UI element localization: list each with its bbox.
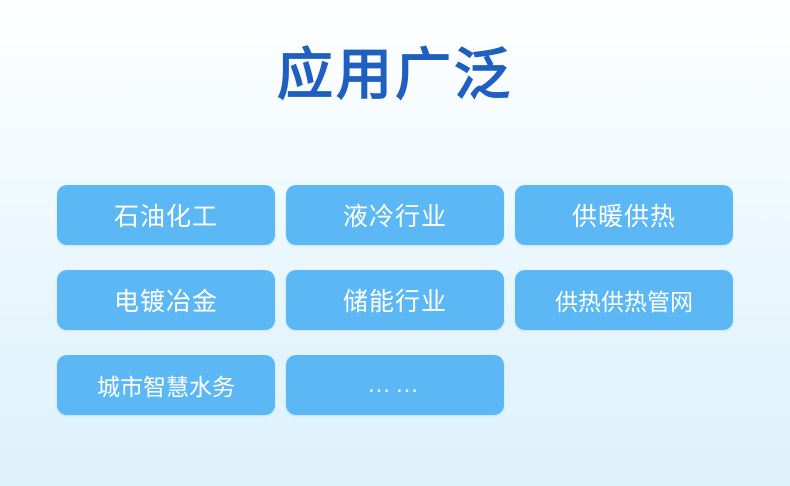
application-tag[interactable]: 石油化工 bbox=[57, 185, 275, 245]
application-tag[interactable]: 液冷行业 bbox=[286, 185, 504, 245]
page-title: 应用广泛 bbox=[0, 44, 790, 106]
application-tag-grid: 石油化工 液冷行业 供暖供热 电镀冶金 储能行业 供热供热管网 城市智慧水务 …… bbox=[57, 185, 733, 415]
application-tag-more[interactable]: …… bbox=[286, 355, 504, 415]
application-tag[interactable]: 储能行业 bbox=[286, 270, 504, 330]
application-tag[interactable]: 供热供热管网 bbox=[515, 270, 733, 330]
application-tag[interactable]: 电镀冶金 bbox=[57, 270, 275, 330]
application-scope-poster: 应用广泛 石油化工 液冷行业 供暖供热 电镀冶金 储能行业 供热供热管网 城市智… bbox=[0, 0, 790, 486]
application-tag-placeholder bbox=[515, 355, 733, 415]
application-tag[interactable]: 供暖供热 bbox=[515, 185, 733, 245]
application-tag[interactable]: 城市智慧水务 bbox=[57, 355, 275, 415]
